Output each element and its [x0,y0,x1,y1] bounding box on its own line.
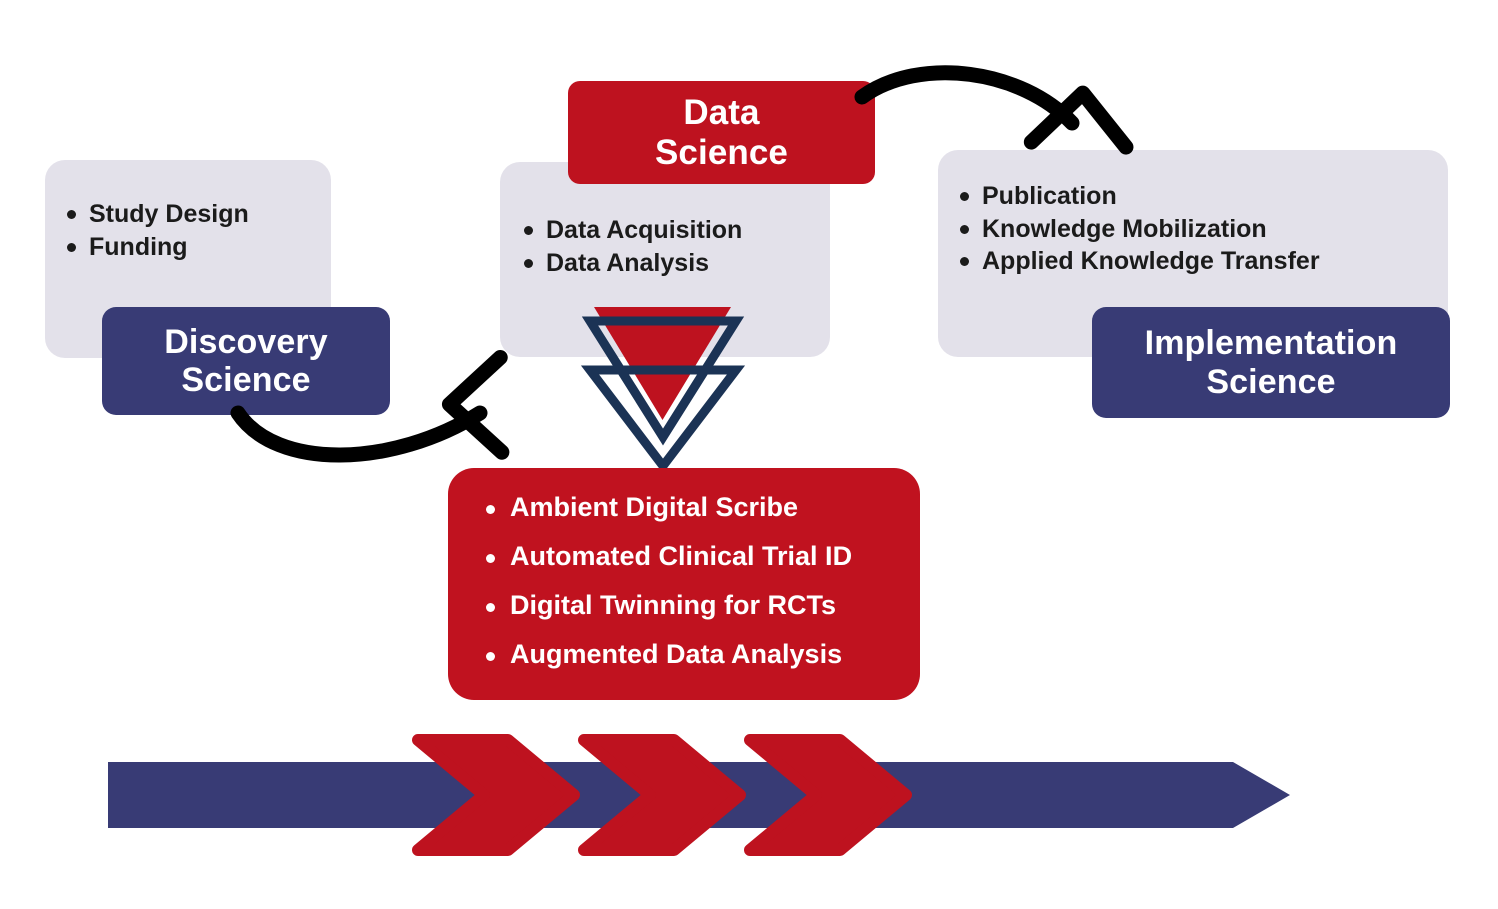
timeline-navy-arrow-bar [108,762,1290,828]
list-item: Data Analysis [516,247,830,280]
list-item: Automated Clinical Trial ID [468,543,920,570]
discovery-item-list: Study Design Funding [59,198,331,263]
diagram-canvas: Study Design Funding DiscoveryScience Da… [0,0,1498,909]
arrowhead-discovery-to-data-science [449,355,548,454]
list-item: Funding [59,231,331,264]
ai-applications-card: Ambient Digital Scribe Automated Clinica… [448,468,920,700]
stage-label-text: DataScience [655,93,788,171]
funnel-outline-triangle-2 [590,370,736,466]
timeline-chevron-3 [750,740,906,850]
implementation-item-list: Publication Knowledge Mobilization Appli… [952,180,1448,278]
stage-label-text: ImplementationScience [1145,324,1398,400]
timeline-chevron-1 [418,740,574,850]
stage-label-discovery-science[interactable]: DiscoveryScience [102,307,390,415]
data-science-item-list: Data Acquisition Data Analysis [516,214,830,279]
stage-label-data-science[interactable]: DataScience [568,81,875,184]
list-item: Study Design [59,198,331,231]
list-item: Applied Knowledge Transfer [952,245,1448,278]
stage-label-text: DiscoveryScience [164,323,327,399]
stage-label-implementation-science[interactable]: ImplementationScience [1092,307,1450,418]
curved-arrow-data-science-to-implementation [862,73,1072,123]
list-item: Augmented Data Analysis [468,641,920,668]
list-item: Knowledge Mobilization [952,213,1448,246]
data-science-items-panel: Data Acquisition Data Analysis [500,162,830,357]
list-item: Digital Twinning for RCTs [468,592,920,619]
list-item: Data Acquisition [516,214,830,247]
timeline-chevron-2 [584,740,740,850]
ai-applications-list: Ambient Digital Scribe Automated Clinica… [448,494,920,668]
list-item: Publication [952,180,1448,213]
list-item: Ambient Digital Scribe [468,494,920,521]
curved-arrow-discovery-to-data-science [238,413,480,455]
